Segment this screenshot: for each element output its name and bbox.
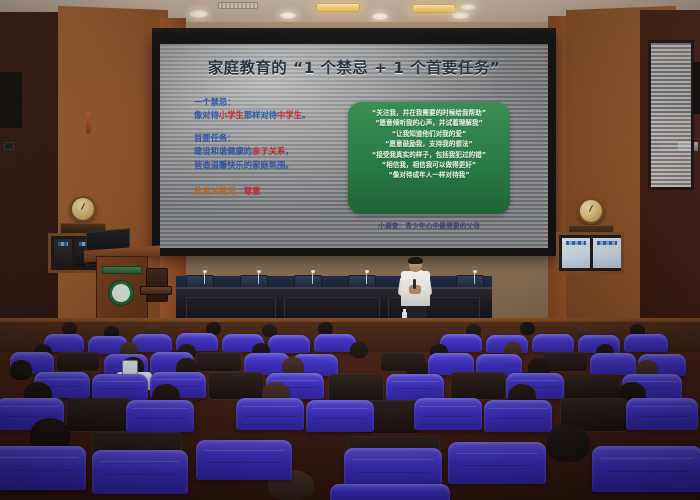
slide-task-block: 首要任务： 建设和谐健康的亲子关系， 营造温馨快乐的家庭氛围。 [194, 132, 366, 172]
desk-microphone [312, 272, 313, 284]
green-line: “关注我，并在我需要的时候给我帮助” [353, 108, 505, 118]
projection-screen: 家庭教育的 “1 个禁忌 + 1 个首要任务” 一个禁忌： 像对待小学生那样对待… [160, 44, 548, 248]
audience-seat[interactable] [132, 334, 172, 352]
slide-task-line-2: 营造温馨快乐的家庭氛围。 [194, 159, 366, 172]
green-line: “接受我真实的样子，包括我犯过的错” [353, 150, 505, 160]
audience-head [546, 424, 590, 462]
audience-head [520, 322, 535, 335]
slide-green-box-caption: 小调查：青少年心中最需要的父母 [348, 220, 510, 230]
presenter-hair [408, 257, 423, 264]
slide-title: 家庭教育的 “1 个禁忌 + 1 个首要任务” [172, 56, 536, 78]
slide-keyword-label: 教育关键词： [194, 186, 244, 196]
audience-seat[interactable] [624, 334, 668, 352]
audience-seat[interactable] [92, 450, 188, 494]
ceiling-downlight [280, 12, 296, 19]
audience-seat[interactable] [532, 334, 574, 352]
wall-clock-left [70, 196, 96, 222]
audience-seat[interactable] [590, 353, 636, 375]
audience-seat[interactable] [126, 400, 194, 432]
audience-seat[interactable] [236, 398, 304, 430]
green-line: “愿意倾听我的心声，并试着理解我” [353, 118, 505, 128]
audience-seat[interactable] [0, 446, 86, 490]
slide-task-line-1: 建设和谐健康的亲子关系， [194, 145, 366, 158]
ceiling-striplight [316, 3, 360, 12]
auditorium-photo: 家庭教育的 “1 个禁忌 + 1 个首要任务” 一个禁忌： 像对待小学生那样对待… [0, 0, 700, 500]
audience-seat-back [208, 372, 264, 400]
ceiling-downlight [190, 10, 208, 18]
task-hl: 亲子关系 [252, 146, 285, 156]
podium-nameplate [102, 266, 142, 274]
ceiling-downlight [460, 4, 476, 10]
audience-seat[interactable] [330, 484, 450, 500]
audience-seat[interactable] [386, 374, 444, 400]
desk-microphone [366, 272, 367, 284]
audience-head [350, 342, 368, 358]
audience-seat[interactable] [448, 442, 546, 484]
stage-chair-left-seat [140, 286, 172, 295]
taboo-hl-secondary: 中学生 [277, 110, 302, 120]
taboo-pre: 像对待 [194, 110, 219, 120]
audience-seat-back [450, 372, 506, 400]
ceiling-striplight [412, 4, 456, 13]
green-line: “让我知道他们对我的爱” [353, 129, 505, 139]
audience-seat[interactable] [626, 398, 698, 430]
green-line: “愿意鼓励我，支持我的想法” [353, 139, 505, 149]
taboo-hl-primary: 小学生 [219, 110, 244, 120]
task-pre: 建设和谐健康的 [194, 146, 252, 156]
window-pane [54, 239, 72, 267]
window-pane [562, 238, 590, 268]
wall-switch-left[interactable] [4, 142, 14, 150]
audience-seat-back [66, 398, 132, 432]
wall-left-black-inset [0, 72, 22, 128]
slide-left-column: 一个禁忌： 像对待小学生那样对待中学生。 首要任务： 建设和谐健康的亲子关系， … [194, 96, 366, 199]
audience-seat[interactable] [268, 335, 310, 353]
slide-keyword-row: 教育关键词：尊重 [194, 185, 366, 198]
desk-microphone [204, 272, 205, 284]
taboo-mid: 那样对待 [244, 110, 277, 120]
audience-seat-back [196, 352, 242, 372]
handheld-microphone-icon [413, 279, 416, 289]
slide-taboo-block: 一个禁忌： 像对待小学生那样对待中学生。 [194, 96, 366, 123]
school-crest-icon [108, 280, 134, 306]
slide-taboo-heading: 一个禁忌： [194, 96, 366, 109]
ceiling-downlight [372, 13, 388, 20]
stage-chair-left [146, 268, 168, 302]
audience-seat[interactable] [484, 400, 552, 432]
audience-seat[interactable] [414, 398, 482, 430]
audience-seat[interactable] [92, 374, 148, 400]
slide-green-callout-box: “关注我，并在我需要的时候给我帮助” “愿意倾听我的心声，并试着理解我” “让我… [348, 102, 510, 214]
audience-seat[interactable] [306, 400, 374, 432]
audience-seat-back [328, 374, 384, 402]
wall-clock-right [578, 198, 604, 224]
green-line: “像对待成年人一样对待我” [353, 170, 505, 180]
slide-task-heading: 首要任务： [194, 132, 366, 145]
green-line: “相信我，相信我可以做得更好” [353, 160, 505, 170]
projection-booth-window-right [556, 232, 624, 274]
ceiling-downlight [452, 12, 469, 19]
desk-microphone [474, 272, 475, 284]
audience-seat[interactable] [196, 440, 292, 480]
exterior-window [648, 40, 694, 190]
wall-sconce-left [86, 112, 91, 134]
slide-taboo-body: 像对待小学生那样对待中学生。 [194, 109, 366, 122]
audience-seat-back [56, 352, 100, 372]
audience-seat[interactable] [592, 446, 700, 492]
slide-keyword-value: 尊重 [244, 186, 261, 196]
taboo-end: 。 [302, 110, 310, 120]
audience-head [10, 360, 32, 380]
task-end: ， [285, 146, 293, 156]
desk-microphone [258, 272, 259, 284]
ceiling-vent [218, 2, 258, 9]
window-pane [593, 238, 621, 268]
